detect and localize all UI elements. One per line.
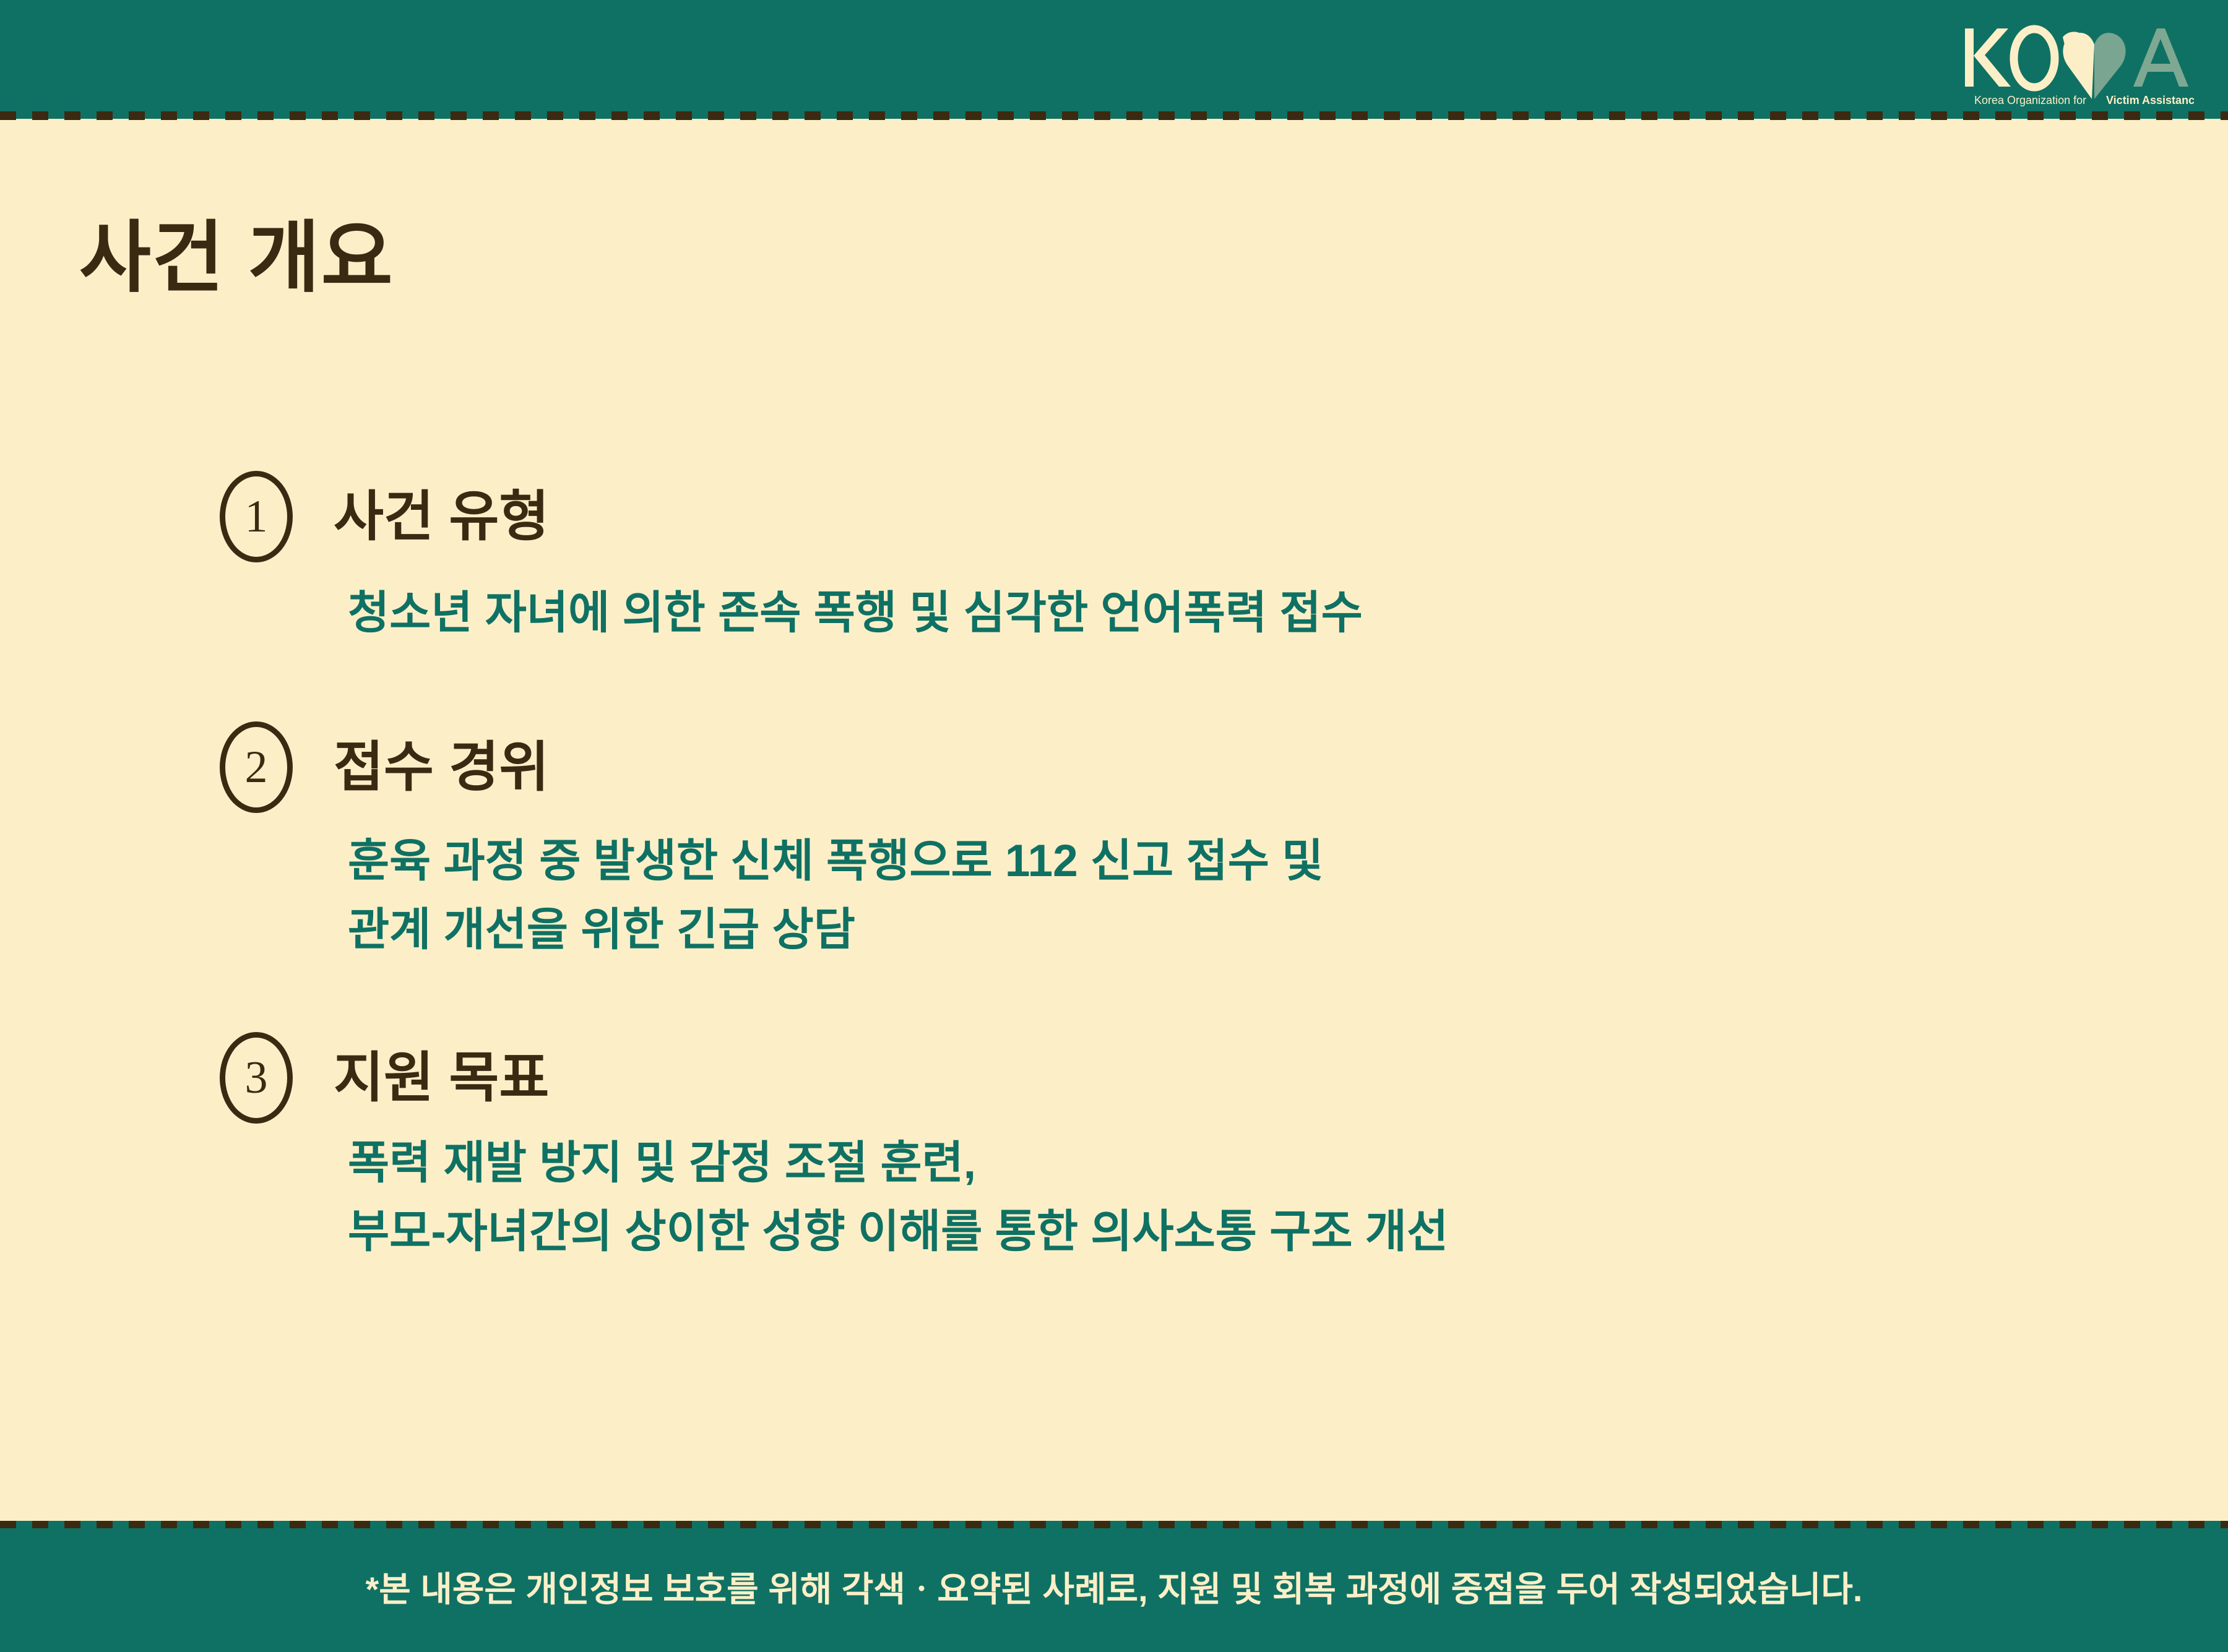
page-title: 사건 개요: [79, 215, 394, 301]
number-badge-3: 3: [220, 1032, 293, 1124]
list-item-header: 1 사건 유형: [0, 470, 2228, 563]
header-dashed-divider: [0, 111, 2228, 120]
list-item-header: 2 접수 경위: [0, 721, 2228, 814]
footer-band: *본 내용은 개인정보 보호를 위해 각색ㆍ요약된 사례로, 지원 및 회복 과…: [0, 1521, 2228, 1652]
body-line: 청소년 자녀에 의한 존속 폭행 및 심각한 언어폭력 접수: [348, 579, 2228, 648]
number-badge-label: 3: [245, 1055, 268, 1101]
svg-text:Victim Assistance: Victim Assistance: [2106, 94, 2194, 106]
footer-note: *본 내용은 개인정보 보호를 위해 각색ㆍ요약된 사례로, 지원 및 회복 과…: [0, 1521, 2228, 1652]
slide: Korea Organization for Victim Assistance…: [0, 0, 2228, 1652]
number-badge-2: 2: [220, 721, 293, 813]
header-band: [0, 0, 2228, 119]
body-line: 부모-자녀간의 상이한 성향 이해를 통한 의사소통 구조 개선: [348, 1198, 2228, 1267]
list-item: 3 지원 목표 폭력 재발 방지 및 감정 조절 훈련, 부모-자녀간의 상이한…: [0, 1031, 2228, 1267]
list-item-title: 사건 유형: [334, 488, 549, 545]
list-item: 2 접수 경위 훈육 과정 중 발생한 신체 폭행으로 112 신고 접수 및 …: [0, 721, 2228, 965]
number-badge-label: 1: [245, 494, 268, 540]
list-item-title: 접수 경위: [334, 739, 549, 796]
list-item: 1 사건 유형 청소년 자녀에 의한 존속 폭행 및 심각한 언어폭력 접수: [0, 470, 2228, 648]
body-line: 관계 개선을 위한 긴급 상담: [348, 896, 2228, 965]
list-item-header: 3 지원 목표: [0, 1031, 2228, 1124]
svg-text:Korea Organization for: Korea Organization for: [1974, 94, 2086, 106]
list-item-body: 훈육 과정 중 발생한 신체 폭행으로 112 신고 접수 및 관계 개선을 위…: [348, 827, 2228, 965]
body-line: 폭력 재발 방지 및 감정 조절 훈련,: [348, 1129, 2228, 1198]
overview-list: 1 사건 유형 청소년 자녀에 의한 존속 폭행 및 심각한 언어폭력 접수 2…: [0, 470, 2228, 1267]
list-item-title: 지원 목표: [334, 1049, 549, 1106]
number-badge-label: 2: [245, 744, 268, 790]
kova-logo: Korea Organization for Victim Assistance: [1959, 17, 2194, 110]
number-badge-1: 1: [220, 471, 293, 562]
body-line: 훈육 과정 중 발생한 신체 폭행으로 112 신고 접수 및: [348, 827, 2228, 896]
list-item-body: 폭력 재발 방지 및 감정 조절 훈련, 부모-자녀간의 상이한 성향 이해를 …: [348, 1129, 2228, 1267]
list-item-body: 청소년 자녀에 의한 존속 폭행 및 심각한 언어폭력 접수: [348, 579, 2228, 648]
